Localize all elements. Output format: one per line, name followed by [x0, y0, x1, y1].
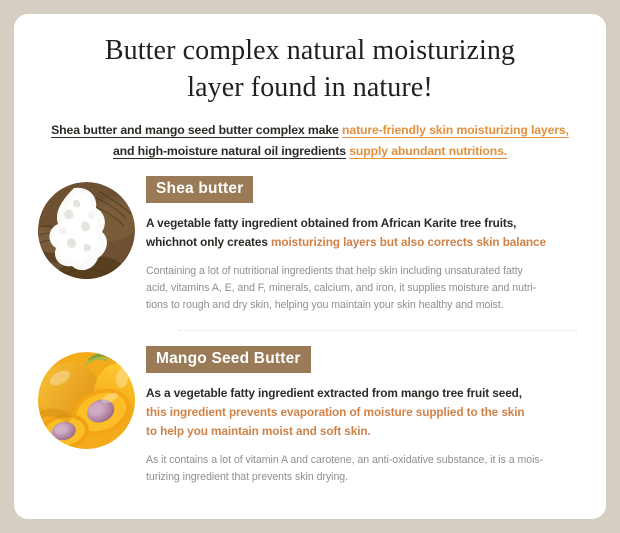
badge-mango-seed-butter: Mango Seed Butter	[146, 346, 311, 373]
shea-lead-line-2-accent: moisturizing layers but also corrects sk…	[271, 235, 546, 249]
mango-seed-photo	[38, 352, 135, 449]
shea-lead-line-1: A vegetable fatty ingredient obtained fr…	[146, 216, 516, 230]
mango-detail: As it contains a lot of vitamin A and ca…	[146, 452, 606, 486]
subtitle-line-1-dark: Shea butter and mango seed butter comple…	[51, 123, 339, 137]
section-shea-butter: Shea butter A vegetable fatty ingredient…	[14, 176, 606, 314]
subtitle-line-2-accent: supply abundant nutritions.	[349, 144, 507, 158]
badge-shea-butter: Shea butter	[146, 176, 253, 203]
shea-butter-photo	[38, 182, 135, 279]
mango-seed-butter-text: Mango Seed Butter As a vegetable fatty i…	[146, 346, 606, 486]
title-line-2: layer found in nature!	[14, 69, 606, 106]
subtitle-line-1: Shea butter and mango seed butter comple…	[14, 120, 606, 141]
mango-lead-line-2-accent: this ingredient prevents evaporation of …	[146, 403, 606, 422]
mango-seed-image	[38, 352, 135, 449]
shea-butter-thumbnail-wrap	[38, 176, 146, 279]
shea-butter-lead: A vegetable fatty ingredient obtained fr…	[146, 214, 606, 252]
subtitle-line-2-dark: and high-moisture natural oil ingredient…	[113, 144, 346, 158]
title-line-1: Butter complex natural moisturizing	[14, 32, 606, 69]
mango-lead-line-3-accent: to help you maintain moist and soft skin…	[146, 422, 606, 441]
mango-lead-line-1: As a vegetable fatty ingredient extracte…	[146, 386, 522, 400]
mango-thumbnail-wrap	[38, 346, 146, 449]
section-mango-seed-butter: Mango Seed Butter As a vegetable fatty i…	[14, 346, 606, 486]
shea-detail-line-2: acid, vitamins A, E, and F, minerals, ca…	[146, 282, 536, 294]
shea-lead-line-2-dark: whichnot only creates	[146, 235, 268, 249]
shea-butter-image	[38, 182, 135, 279]
shea-butter-text: Shea butter A vegetable fatty ingredient…	[146, 176, 606, 314]
subtitle-line-1-accent: nature-friendly skin moisturizing layers…	[342, 123, 569, 137]
page-title: Butter complex natural moisturizing laye…	[14, 14, 606, 106]
section-divider	[179, 330, 577, 332]
shea-detail-line-1: Containing a lot of nutritional ingredie…	[146, 265, 523, 277]
mango-lead: As a vegetable fatty ingredient extracte…	[146, 384, 606, 441]
mango-detail-line-1: As it contains a lot of vitamin A and ca…	[146, 454, 543, 466]
mango-detail-line-2: turizing ingredient that prevents skin d…	[146, 471, 348, 483]
shea-butter-detail: Containing a lot of nutritional ingredie…	[146, 263, 606, 314]
shea-detail-line-3: tions to rough and dry skin, helping you…	[146, 299, 504, 311]
content-card: Butter complex natural moisturizing laye…	[14, 14, 606, 519]
subtitle: Shea butter and mango seed butter comple…	[14, 120, 606, 162]
subtitle-line-2: and high-moisture natural oil ingredient…	[14, 141, 606, 162]
